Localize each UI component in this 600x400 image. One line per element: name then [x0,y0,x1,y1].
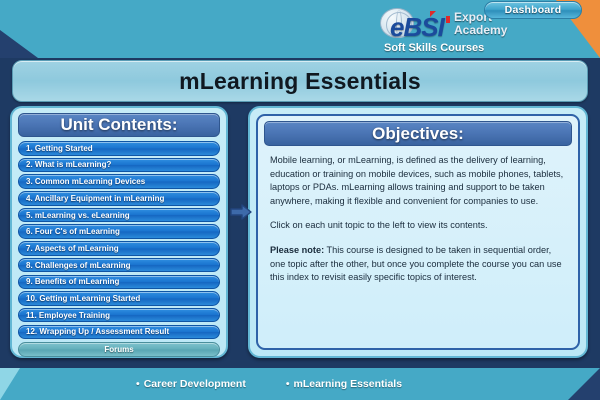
course-index-page: eBSI Export Academy Soft Skills Courses … [0,0,600,400]
unit-list-item[interactable]: 11. Employee Training [18,308,220,323]
unit-list-item[interactable]: 1. Getting Started [18,141,220,156]
unit-list-item-label: 12. Wrapping Up / Assessment Result [26,327,169,336]
flag-icon [430,11,436,17]
unit-list-item-label: 8. Challenges of mLearning [26,261,130,270]
logo-wordmark: eBSI [390,14,444,40]
arrow-right-icon [230,204,252,220]
breadcrumb: •Career Development•mLearning Essentials [0,368,600,400]
bullet-icon: • [136,378,140,390]
flag-pole-icon [446,16,450,23]
objectives-note-label: Please note: [270,245,324,255]
logo-line-academy: Academy [454,24,507,37]
unit-list: 1. Getting Started2. What is mLearning?3… [18,141,220,339]
unit-contents-panel: Unit Contents: 1. Getting Started2. What… [10,106,228,358]
forums-button[interactable]: Forums [18,342,220,357]
unit-list-item-label: 5. mLearning vs. eLearning [26,211,130,220]
objectives-paragraph-1: Mobile learning, or mLearning, is define… [270,154,566,208]
unit-list-item[interactable]: 8. Challenges of mLearning [18,258,220,273]
unit-list-item[interactable]: 4. Ancillary Equipment in mLearning [18,191,220,206]
page-footer: •Career Development•mLearning Essentials [0,368,600,400]
unit-list-item[interactable]: 3. Common mLearning Devices [18,174,220,189]
unit-list-item-label: 3. Common mLearning Devices [26,177,145,186]
unit-list-item[interactable]: 10. Getting mLearning Started [18,291,220,306]
unit-list-item[interactable]: 12. Wrapping Up / Assessment Result [18,325,220,340]
page-title: mLearning Essentials [179,68,421,95]
objectives-body: Mobile learning, or mLearning, is define… [264,152,572,285]
unit-list-item-label: 9. Benefits of mLearning [26,277,119,286]
unit-list-item-label: 11. Employee Training [26,311,110,320]
dashboard-button-label: Dashboard [505,4,562,16]
logo-subtitle: Soft Skills Courses [384,42,484,54]
page-header: eBSI Export Academy Soft Skills Courses … [0,0,600,58]
unit-list-item-label: 2. What is mLearning? [26,160,111,169]
unit-list-item[interactable]: 6. Four C's of mLearning [18,224,220,239]
unit-list-item[interactable]: 2. What is mLearning? [18,158,220,173]
breadcrumb-item[interactable]: •mLearning Essentials [286,378,402,390]
objectives-inner: Objectives: Mobile learning, or mLearnin… [256,114,580,350]
unit-list-item-label: 4. Ancillary Equipment in mLearning [26,194,164,203]
objectives-panel: Objectives: Mobile learning, or mLearnin… [248,106,588,358]
breadcrumb-item-label: Career Development [144,378,246,390]
dashboard-button[interactable]: Dashboard [484,1,582,19]
unit-list-item-label: 10. Getting mLearning Started [26,294,140,303]
objectives-heading: Objectives: [372,124,464,144]
objectives-paragraph-2: Click on each unit topic to the left to … [270,219,566,233]
objectives-header: Objectives: [264,121,572,146]
breadcrumb-item-label: mLearning Essentials [294,378,403,390]
objectives-note: Please note: This course is designed to … [270,244,566,285]
unit-list-item-label: 7. Aspects of mLearning [26,244,119,253]
bullet-icon: • [286,378,290,390]
unit-contents-header: Unit Contents: [18,113,220,137]
unit-list-item-label: 6. Four C's of mLearning [26,227,120,236]
header-navy-corner [0,30,38,58]
breadcrumb-item[interactable]: •Career Development [136,378,246,390]
unit-list-item[interactable]: 5. mLearning vs. eLearning [18,208,220,223]
unit-list-item-label: 1. Getting Started [26,144,93,153]
page-title-banner: mLearning Essentials [12,60,588,102]
unit-list-item[interactable]: 7. Aspects of mLearning [18,241,220,256]
unit-contents-heading: Unit Contents: [60,115,177,135]
unit-list-item[interactable]: 9. Benefits of mLearning [18,275,220,290]
forums-label: Forums [104,345,133,354]
